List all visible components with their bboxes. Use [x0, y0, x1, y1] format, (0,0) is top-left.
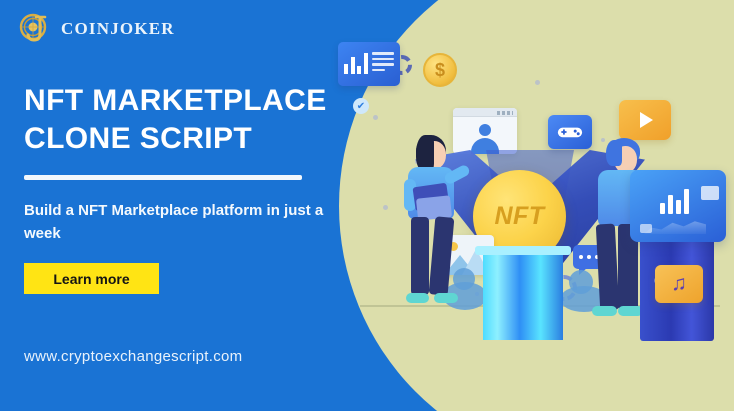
gamepad-icon [557, 124, 583, 140]
bar-chart-icon [338, 42, 400, 86]
video-tile [619, 100, 671, 140]
hero-illustration: $ ✔ [355, 20, 734, 380]
hair-side [416, 135, 434, 171]
website-url: www.cryptoexchangescript.com [24, 348, 242, 365]
nft-coin-label: NFT [494, 202, 544, 231]
pedestal-top [475, 246, 571, 255]
brand-name: COINJOKER [61, 19, 175, 39]
check-icon: ✔ [353, 98, 369, 114]
user-profile-icon [479, 124, 491, 136]
woman-with-folder [400, 135, 470, 310]
chart-bars [344, 52, 368, 74]
play-icon [640, 112, 653, 128]
page-subtitle: Build a NFT Marketplace platform in just… [24, 200, 324, 245]
learn-more-button[interactable]: Learn more [24, 263, 159, 294]
decor-dot [373, 115, 378, 120]
line-chart-icon [644, 218, 706, 234]
screen-tile [701, 186, 719, 200]
chart-bars [660, 188, 689, 214]
title-divider [24, 175, 302, 180]
decor-dot [535, 80, 540, 85]
decor-blob [569, 270, 593, 294]
hair-side [606, 140, 622, 166]
screen-chip [640, 224, 652, 233]
kiosk-screen [630, 170, 726, 242]
gamepad-tile [548, 115, 592, 149]
leg [596, 224, 619, 311]
shoe [406, 293, 429, 303]
shoe [434, 293, 458, 303]
music-tile: ♫ [655, 265, 703, 303]
display-pedestal [483, 252, 563, 340]
decor-dot [383, 205, 388, 210]
leg [429, 216, 455, 295]
coin-joker-logo-icon [18, 12, 52, 46]
dollar-coin-icon: $ [423, 53, 457, 87]
window-controls-icon [497, 111, 513, 115]
leg [411, 217, 429, 295]
shoe [592, 306, 617, 316]
chart-lines [372, 52, 394, 74]
nft-marketplace-banner: COINJOKER NFT MARKETPLACE CLONE SCRIPT B… [0, 0, 734, 411]
page-title: NFT MARKETPLACE CLONE SCRIPT [24, 82, 354, 157]
brand-logo[interactable]: COINJOKER [18, 12, 175, 46]
